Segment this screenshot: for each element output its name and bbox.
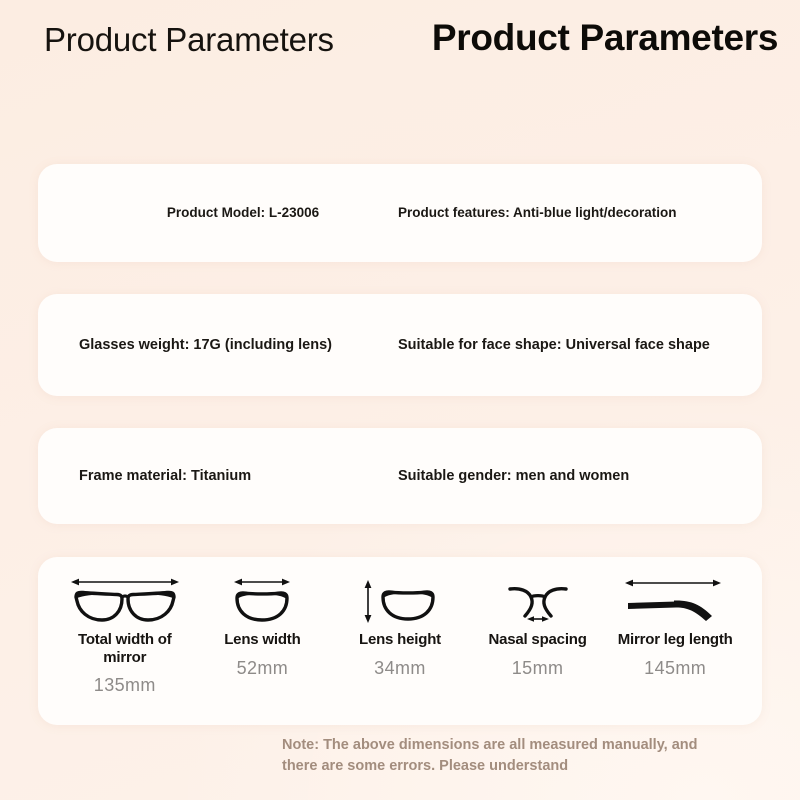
spec-face-shape: Suitable for face shape: Universal face …	[398, 335, 743, 356]
spec-glasses-weight: Glasses weight: 17G (including lens)	[79, 335, 399, 356]
spec-row: Glasses weight: 17G (including lens) Sui…	[38, 294, 762, 396]
temple-arm-icon	[620, 571, 730, 625]
page-title-bold: Product Parameters	[430, 14, 780, 63]
dimension-value: 34mm	[374, 658, 426, 679]
glasses-frame-icon	[69, 571, 181, 625]
dimension-label: Lens width	[224, 631, 300, 649]
dimension-value: 145mm	[644, 658, 706, 679]
dimension-value: 135mm	[94, 675, 156, 696]
spec-product-model: Product Model: L-23006	[93, 203, 393, 222]
spec-frame-material: Frame material: Titanium	[79, 466, 399, 487]
measurement-note: Note: The above dimensions are all measu…	[282, 735, 707, 777]
spec-product-features: Product features: Anti-blue light/decora…	[398, 203, 743, 222]
dimension-value: 15mm	[512, 658, 564, 679]
single-lens-icon	[219, 571, 305, 625]
dimension-label: Mirror leg length	[618, 631, 733, 649]
lens-height-icon	[357, 571, 443, 625]
spec-card: Glasses weight: 17G (including lens) Sui…	[38, 294, 762, 396]
spec-card: Frame material: Titanium Suitable gender…	[38, 428, 762, 524]
dimension-item-mirror-leg: Mirror leg length 145mm	[606, 557, 744, 725]
dimension-label: Total width of mirror	[56, 631, 194, 666]
spec-gender: Suitable gender: men and women	[398, 466, 743, 487]
dimension-label: Lens height	[359, 631, 441, 649]
dimension-item-lens-height: Lens height 34mm	[331, 557, 469, 725]
dimension-item-nasal-spacing: Nasal spacing 15mm	[469, 557, 607, 725]
dimensions-card: Total width of mirror 135mm Lens width 5	[38, 557, 762, 725]
dimension-label: Nasal spacing	[488, 631, 586, 649]
headings-section: Product Parameters Product Parameters	[0, 0, 800, 140]
dimension-item-total-width: Total width of mirror 135mm	[56, 557, 194, 725]
spec-row: Frame material: Titanium Suitable gender…	[38, 428, 762, 524]
dimension-value: 52mm	[237, 658, 289, 679]
spec-row: Product Model: L-23006 Product features:…	[38, 164, 762, 262]
page-title-outline: Product Parameters	[44, 18, 374, 62]
dimension-item-lens-width: Lens width 52mm	[194, 557, 332, 725]
dimensions-grid: Total width of mirror 135mm Lens width 5	[38, 557, 762, 725]
spec-card: Product Model: L-23006 Product features:…	[38, 164, 762, 262]
nose-bridge-icon	[498, 571, 578, 625]
